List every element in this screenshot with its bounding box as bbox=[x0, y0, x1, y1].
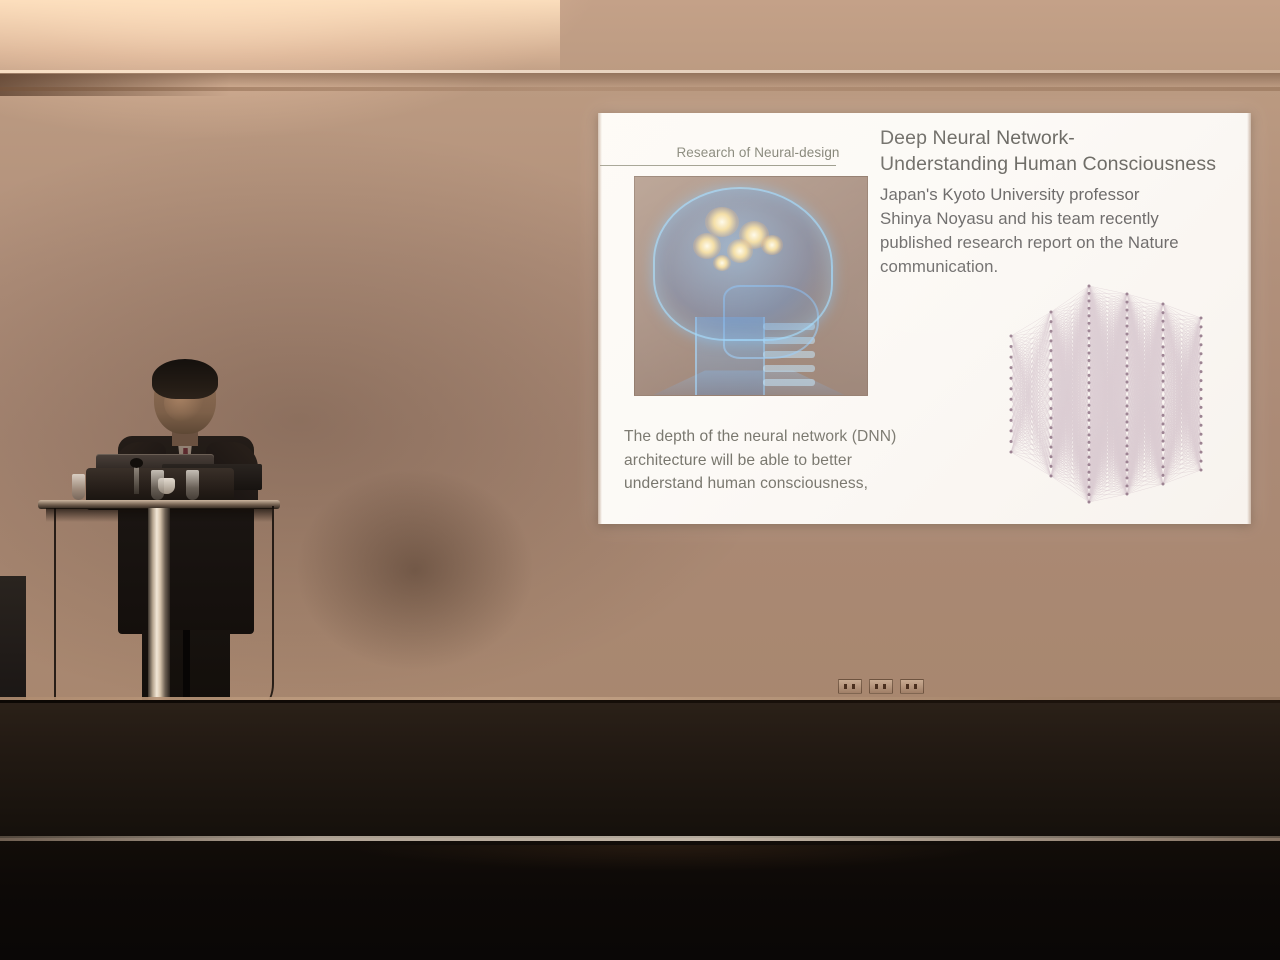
cable-right bbox=[238, 506, 274, 720]
slide-right-edge bbox=[1247, 113, 1251, 524]
hair bbox=[152, 359, 218, 399]
slide-title: Deep Neural Network- Understanding Human… bbox=[880, 125, 1232, 177]
wall-band-line bbox=[0, 87, 1280, 91]
ceiling-light-glow bbox=[0, 0, 560, 78]
floor-reflection bbox=[220, 845, 1120, 905]
projected-slide: Research of Neural-design Deep Neural Ne… bbox=[598, 113, 1251, 524]
neural-network-svg bbox=[993, 281, 1243, 507]
brain-scan-skull bbox=[653, 187, 833, 341]
slide-title-line-1: Deep Neural Network- bbox=[880, 125, 1232, 151]
brain-activity-spot bbox=[727, 239, 753, 263]
outlet-icon bbox=[900, 679, 924, 694]
slide-body-line-4: communication. bbox=[880, 255, 1232, 279]
drinking-glass bbox=[72, 474, 85, 500]
drinking-glass bbox=[151, 470, 164, 500]
outlet-icon bbox=[838, 679, 862, 694]
slide-body: Japan's Kyoto University professor Shiny… bbox=[880, 183, 1232, 279]
slide-footer-line-3: understand human consciousness, bbox=[624, 472, 954, 496]
slide-footer-line-2: architecture will be able to better bbox=[624, 449, 954, 473]
slide-body-line-1: Japan's Kyoto University professor bbox=[880, 183, 1232, 207]
brain-scan-image bbox=[634, 176, 868, 396]
presenter-wall-shadow bbox=[250, 430, 580, 710]
brain-activity-spot bbox=[713, 255, 731, 271]
neural-network-diagram bbox=[993, 281, 1243, 507]
slide-body-line-2: Shinya Noyasu and his team recently bbox=[880, 207, 1232, 231]
slide-kicker-text: Research of Neural-design bbox=[640, 145, 876, 160]
slide-kicker: Research of Neural-design bbox=[640, 145, 876, 171]
slide-left-edge bbox=[598, 113, 602, 524]
wall-outlets bbox=[838, 679, 922, 695]
microphone-stem bbox=[134, 464, 139, 494]
slide-kicker-rule bbox=[600, 165, 836, 166]
brain-activity-spot bbox=[761, 235, 783, 255]
drinking-glass bbox=[186, 470, 199, 500]
presentation-photo-scene: Research of Neural-design Deep Neural Ne… bbox=[0, 0, 1280, 960]
outlet-icon bbox=[869, 679, 893, 694]
slide-title-line-2: Understanding Human Consciousness bbox=[880, 151, 1232, 177]
microphone-icon bbox=[130, 458, 143, 468]
slide-body-line-3: published research report on the Nature bbox=[880, 231, 1232, 255]
wall-trim-shadow bbox=[0, 73, 1280, 87]
stage-front-face bbox=[0, 700, 1280, 838]
slide-footer-line-1: The depth of the neural network (DNN) bbox=[624, 425, 954, 449]
slide-footer: The depth of the neural network (DNN) ar… bbox=[624, 425, 954, 496]
